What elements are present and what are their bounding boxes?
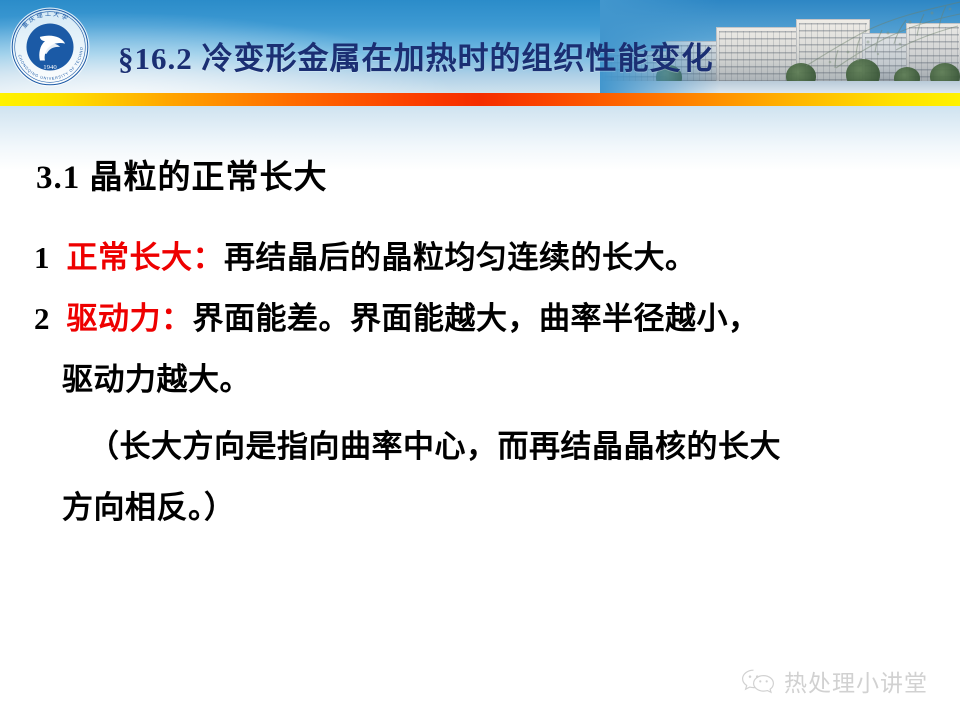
slide-header-banner: 1940 重庆理工大学 CHONGQING UNIVERSITY OF TECH…	[0, 0, 960, 93]
bullet-number: 1	[34, 240, 50, 275]
university-logo: 1940 重庆理工大学 CHONGQING UNIVERSITY OF TECH…	[8, 5, 92, 89]
svg-text:1940: 1940	[43, 64, 57, 71]
bare-branches-overlay	[710, 0, 960, 80]
slide-title: §16.2 冷变形金属在加热时的组织性能变化	[118, 33, 714, 78]
section-heading: 3.1 晶粒的正常长大	[36, 150, 328, 198]
bullet-item-1: 1 正常长大：再结晶后的晶粒均匀连续的长大。	[34, 242, 697, 273]
wechat-icon	[741, 668, 775, 695]
watermark-text: 热处理小讲堂	[784, 664, 928, 698]
bullet-keyword: 正常长大：	[67, 240, 225, 275]
bullet-text: 界面能差。界面能越大，曲率半径越小，	[193, 301, 760, 336]
bullet-continuation: 驱动力越大。	[62, 364, 251, 395]
slide-body: 3.1 晶粒的正常长大 1 正常长大：再结晶后的晶粒均匀连续的长大。 2 驱动力…	[0, 106, 960, 720]
note-line-1: （长大方向是指向曲率中心，而再结晶晶核的长大	[88, 431, 781, 462]
bullet-number: 2	[34, 301, 50, 336]
bullet-keyword: 驱动力：	[67, 301, 193, 336]
bullet-text: 再结晶后的晶粒均匀连续的长大。	[224, 240, 697, 275]
note-line-2: 方向相反。）	[62, 492, 236, 523]
header-divider-bar	[0, 93, 960, 106]
bullet-item-2: 2 驱动力：界面能差。界面能越大，曲率半径越小，	[34, 303, 760, 334]
watermark: 热处理小讲堂	[741, 664, 928, 698]
